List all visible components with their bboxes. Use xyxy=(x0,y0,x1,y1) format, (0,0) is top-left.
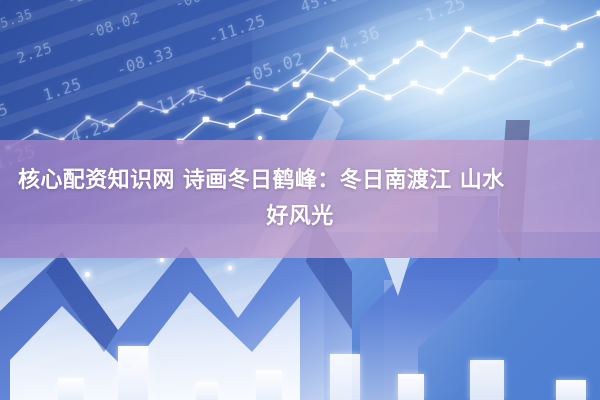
headline-line-1: 核心配资知识网 诗画冬日鹤峰：冬日南渡江 山水 xyxy=(18,166,505,196)
banner-image: -0.952.25-08.02-00.3521.35-0.952.25-08.0… xyxy=(0,0,600,400)
headline-block: 核心配资知识网 诗画冬日鹤峰：冬日南渡江 山水 好风光 xyxy=(0,140,600,258)
background-bottomright-sheen xyxy=(384,280,600,400)
headline-line-2: 好风光 xyxy=(266,202,333,232)
